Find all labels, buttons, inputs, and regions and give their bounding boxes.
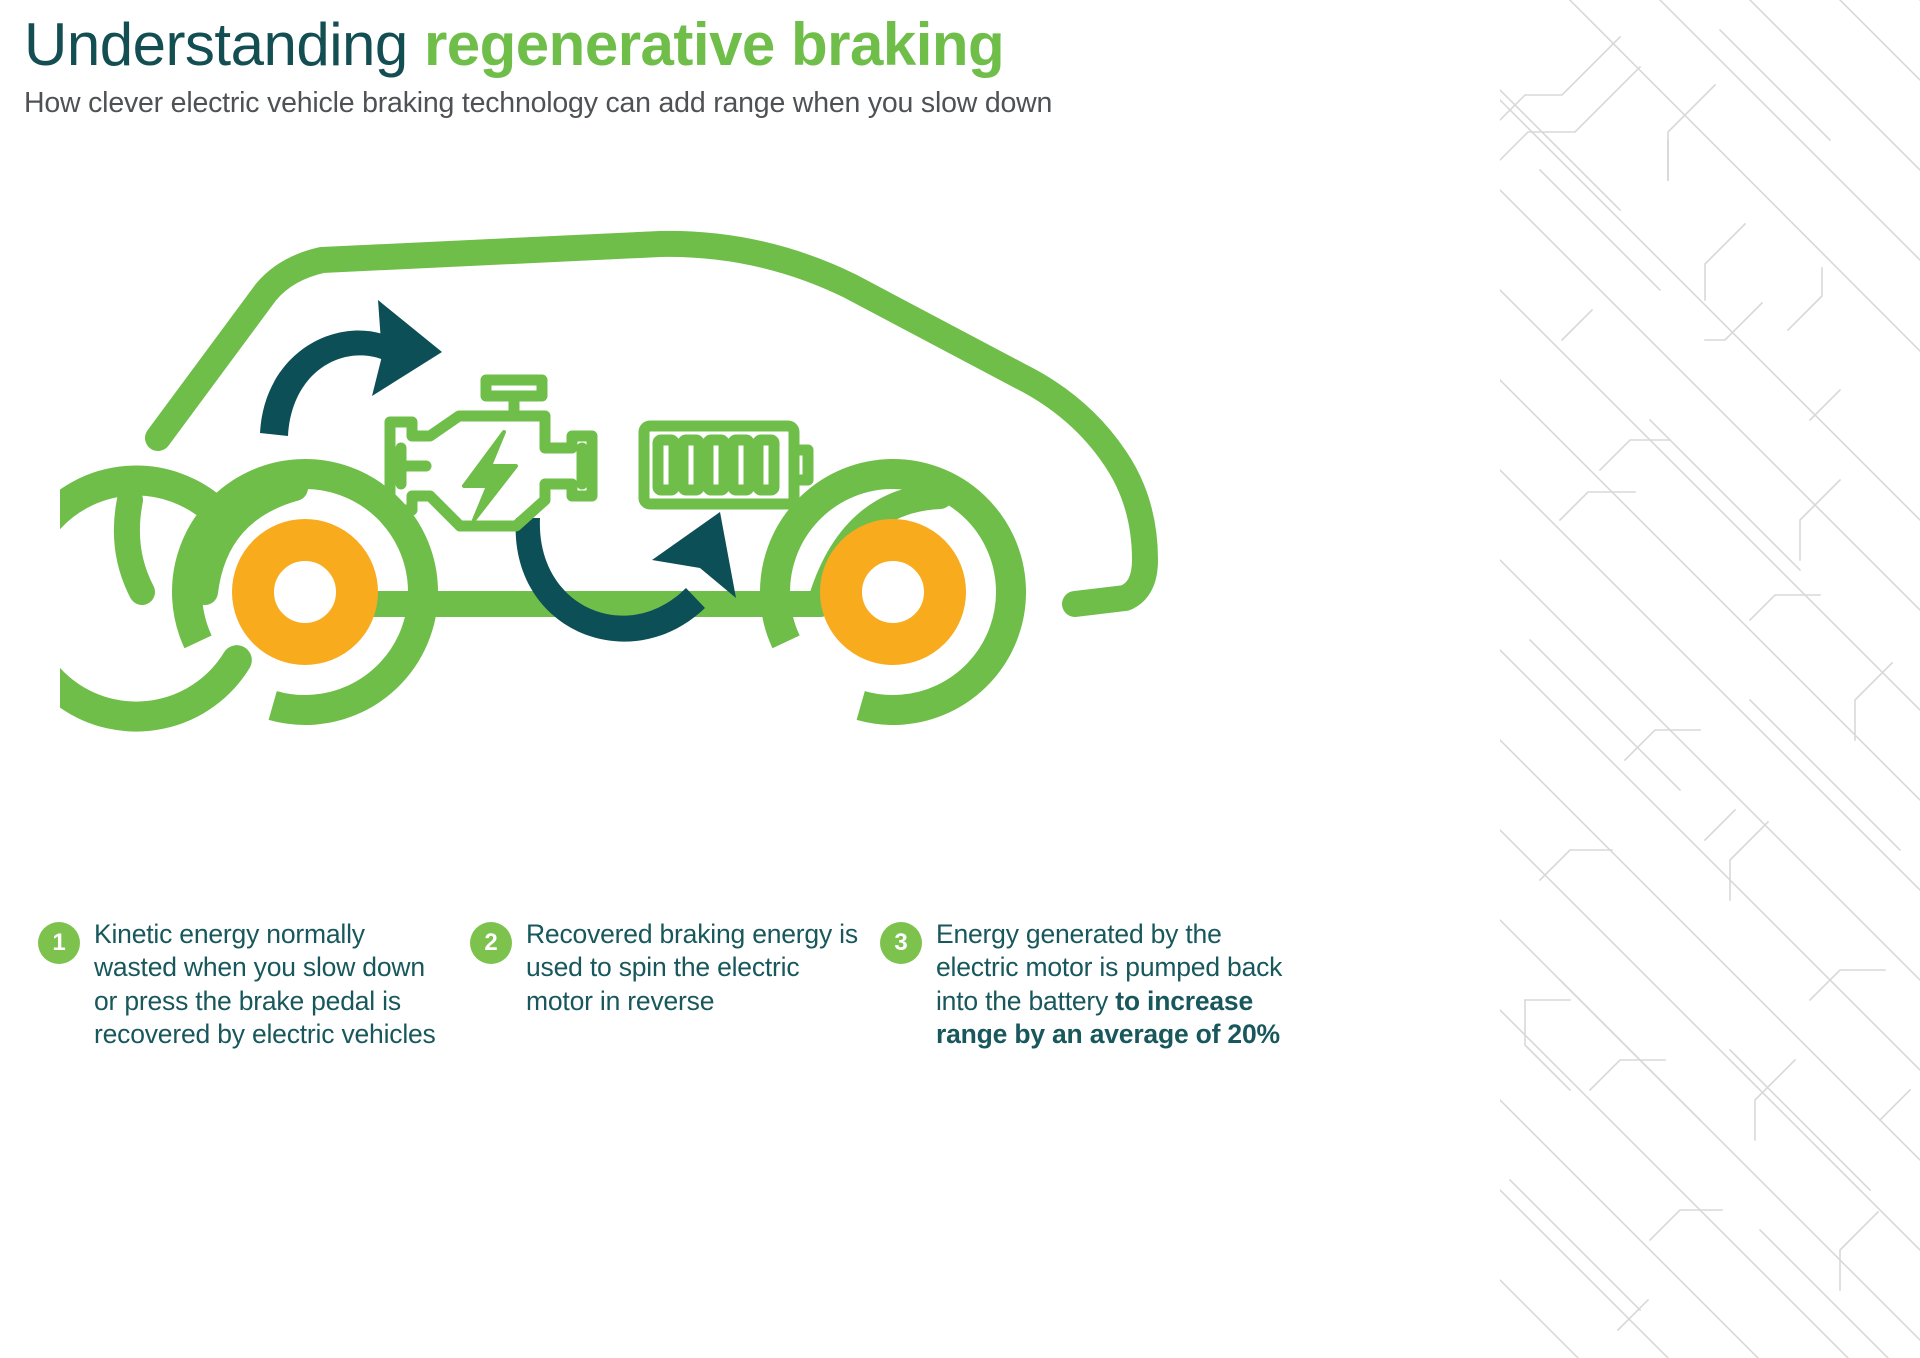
page-title: Understanding regenerative braking [24,14,1484,76]
infographic-canvas: Understanding regenerative braking How c… [0,0,1920,1358]
step-item-1: 1 Kinetic energy normally wasted when yo… [38,918,448,1052]
curved-arrow-right [260,300,442,436]
steps-list: 1 Kinetic energy normally wasted when yo… [38,918,1458,1052]
car-illustration [60,200,1320,840]
front-wheel-hub [253,540,357,644]
front-bumper [127,500,142,592]
title-part-2: regenerative braking [424,11,1004,78]
step-text-1: Kinetic energy normally wasted when you … [94,918,448,1052]
step-text-2: Recovered braking energy is used to spin… [526,918,860,1018]
rear-wheel [736,435,1050,749]
circuit-pattern-decoration [1500,0,1920,1358]
step-badge-2: 2 [470,922,512,964]
engine-motor-icon [390,380,592,526]
step-item-2: 2 Recovered braking energy is used to sp… [448,918,860,1052]
header: Understanding regenerative braking How c… [24,14,1484,120]
page-subtitle: How clever electric vehicle braking tech… [24,88,1484,120]
step-item-3: 3 Energy generated by the electric motor… [860,918,1300,1052]
curved-arrow-up-right [516,512,736,642]
step-badge-3: 3 [880,922,922,964]
step-badge-1: 1 [38,922,80,964]
step-text-2-normal: Recovered braking energy is used to spin… [526,919,858,1016]
title-part-1: Understanding [24,11,408,78]
step-text-1-normal: Kinetic energy normally wasted when you … [94,919,436,1049]
battery-icon [644,426,808,504]
step-text-3: Energy generated by the electric motor i… [936,918,1300,1052]
rear-wheel-hub [841,540,945,644]
